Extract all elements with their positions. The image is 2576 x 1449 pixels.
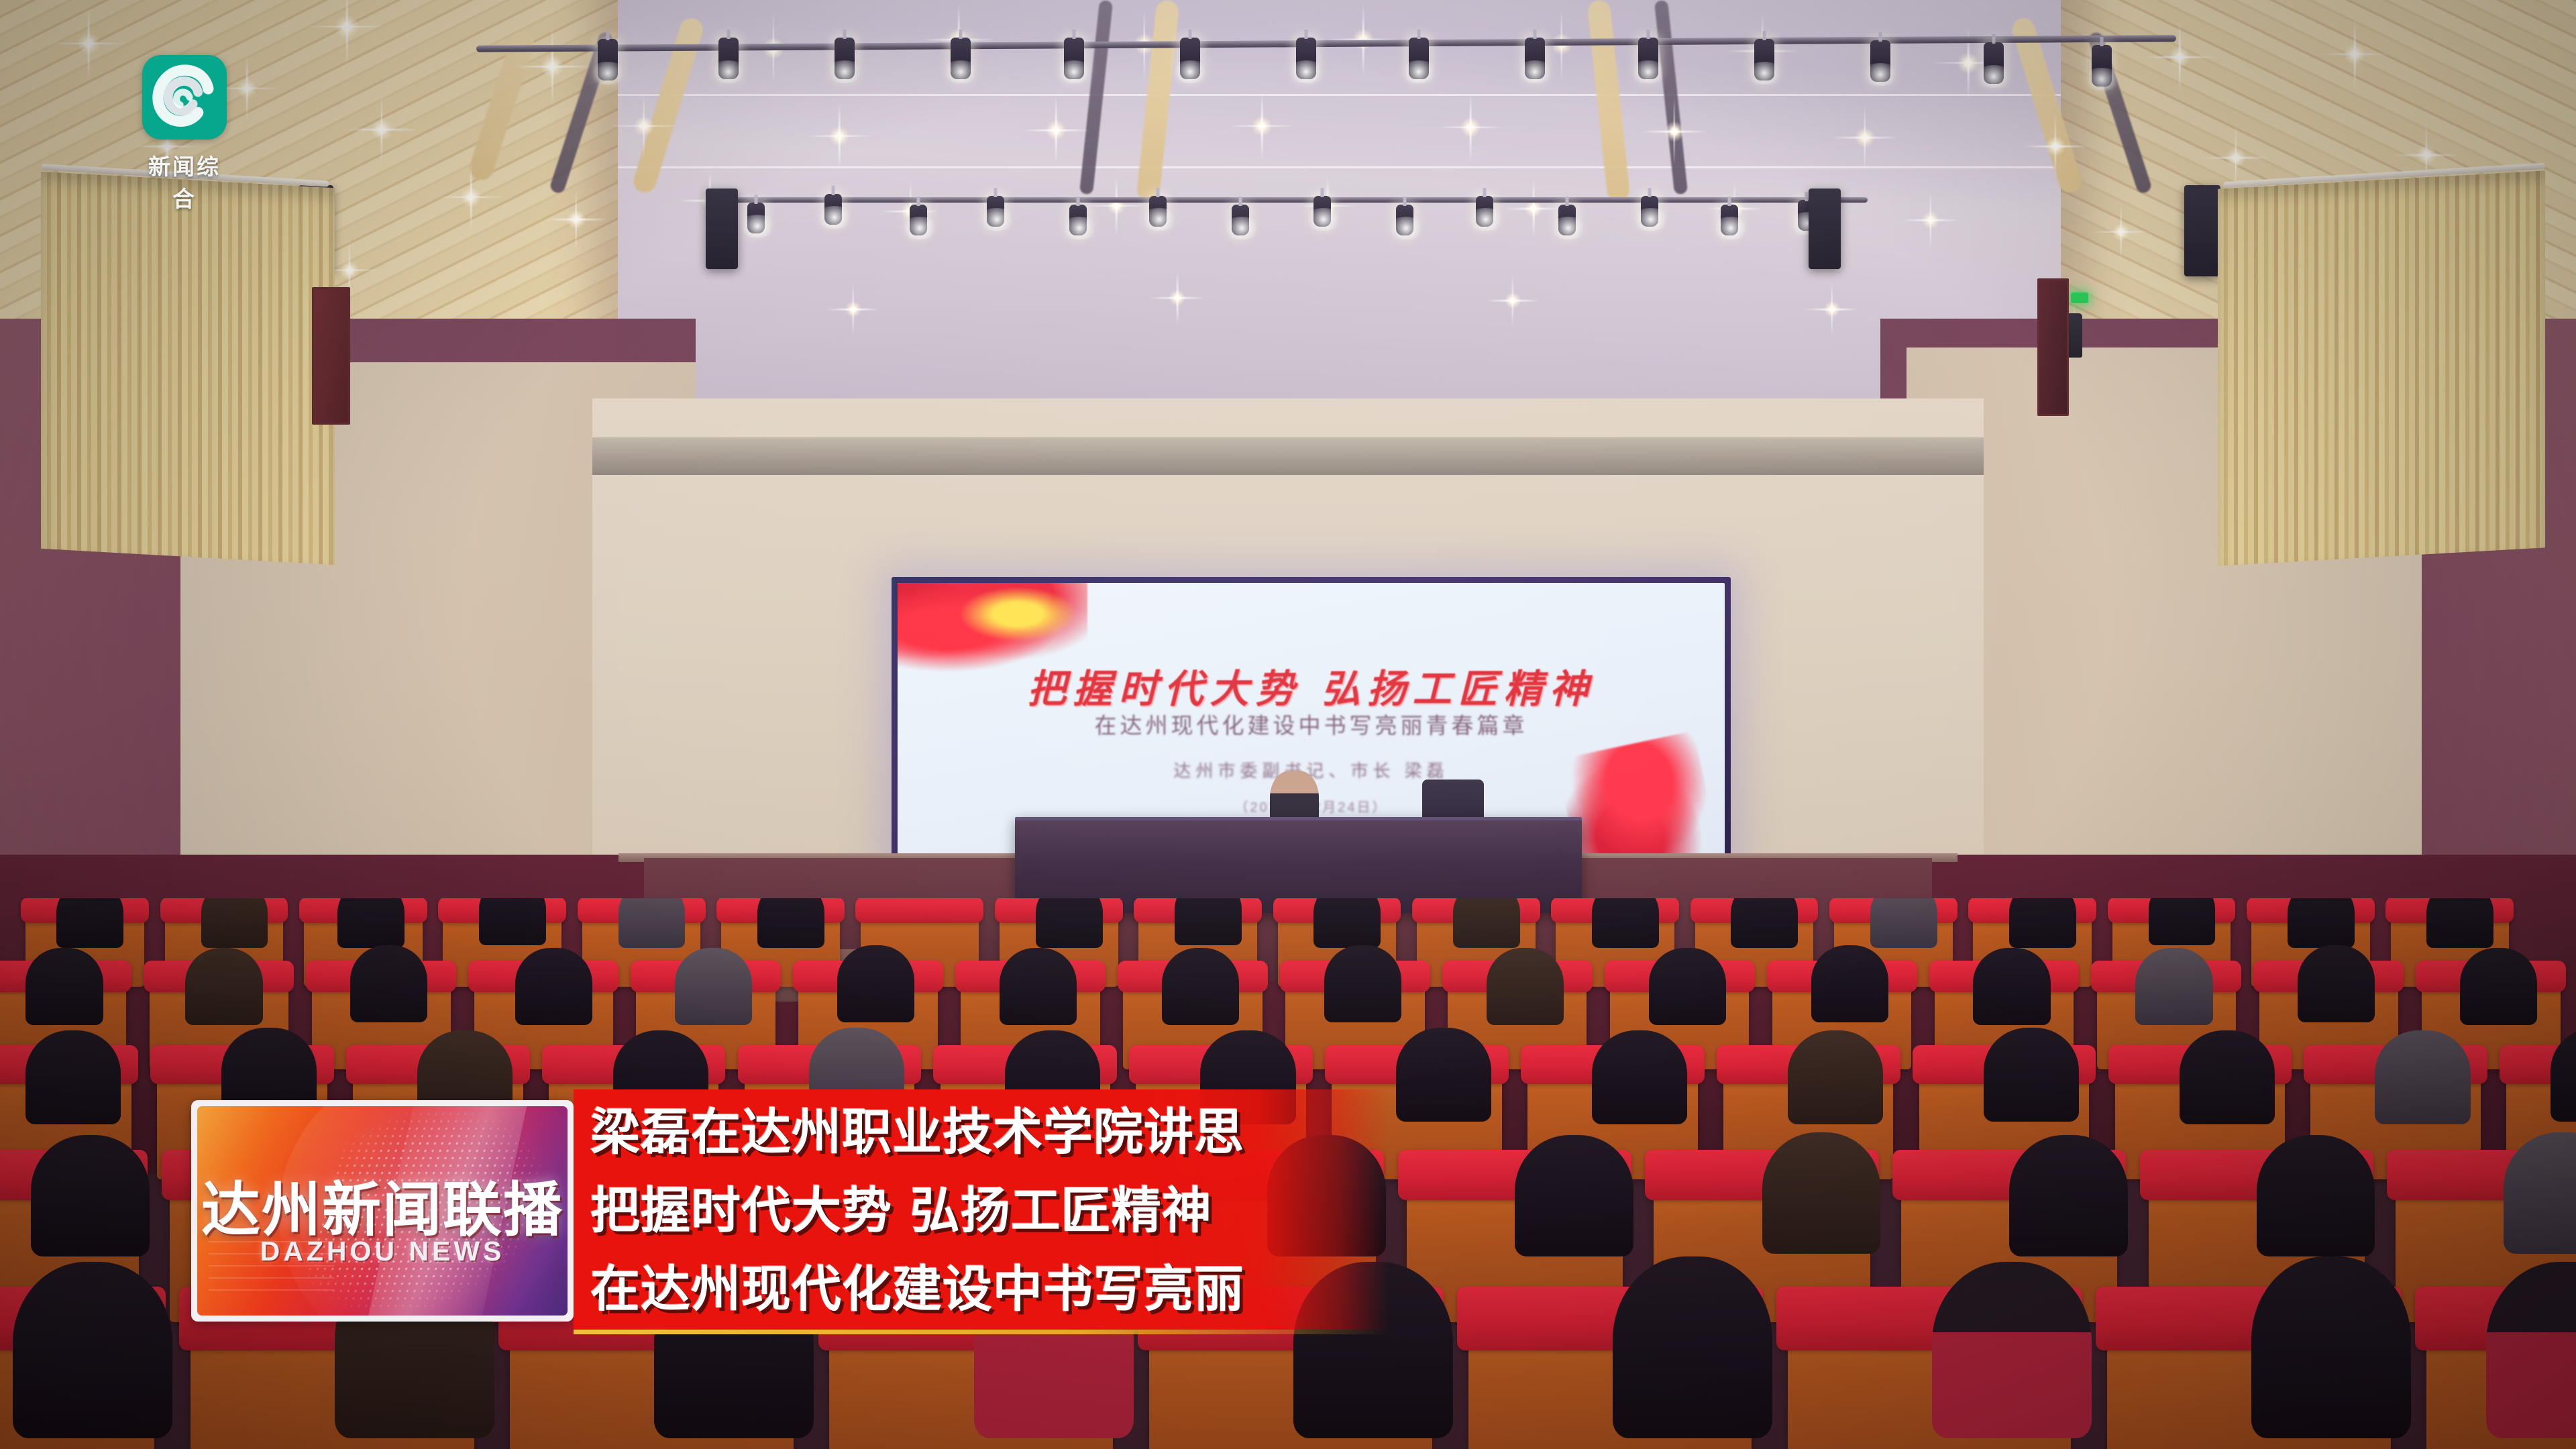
- front-light: [1069, 205, 1087, 235]
- stage-light-fixture: [718, 38, 739, 79]
- headline-line-2: 把握时代大势 弘扬工匠精神: [590, 1172, 1476, 1250]
- speaker-left: [706, 189, 738, 269]
- ceiling-light: [335, 15, 359, 39]
- ceiling-light: [77, 32, 100, 55]
- led-title: 把握时代大势 弘扬工匠精神: [898, 657, 1725, 714]
- headline-line-3: 在达州现代化建设中书写亮丽: [590, 1250, 1476, 1329]
- led-subtitle: 在达州现代化建设中书写亮丽青春篇章: [898, 708, 1725, 740]
- front-light: [1396, 205, 1413, 235]
- front-light: [1476, 196, 1493, 227]
- ceiling-light: [1505, 292, 1521, 309]
- headline-text: 梁磊在达州职业技术学院讲思 把握时代大势 弘扬工匠精神 在达州现代化建设中书写亮…: [590, 1093, 1476, 1329]
- ceiling-light: [461, 187, 481, 207]
- speaker-right: [1809, 189, 1841, 269]
- channel-name: 新闻综合: [142, 149, 227, 213]
- ceiling-light: [567, 210, 586, 229]
- stage-light-fixture: [1638, 38, 1658, 79]
- front-light: [1313, 196, 1331, 227]
- ceiling-light: [2045, 136, 2065, 156]
- lighting-truss-front: [708, 197, 1868, 203]
- stage-light-fixture: [1870, 40, 1890, 82]
- front-light: [1641, 196, 1658, 227]
- stage-light-fixture: [1984, 42, 2004, 84]
- front-light: [747, 203, 765, 233]
- front-light: [1149, 196, 1167, 227]
- stage-light-fixture: [951, 38, 971, 79]
- curtain-left: [41, 172, 335, 565]
- proscenium-valance: [592, 437, 1984, 475]
- front-light: [1721, 205, 1738, 235]
- front-light: [1558, 205, 1576, 235]
- ceiling-light: [237, 78, 257, 99]
- ceiling-light: [1664, 121, 1684, 142]
- front-light: [910, 205, 927, 235]
- ceiling-light: [634, 116, 654, 136]
- stage-light-fixture: [1525, 38, 1545, 79]
- front-light: [824, 194, 842, 225]
- program-logo-badge: 达州新闻联播 DAZHOU NEWS: [191, 1100, 574, 1322]
- ceiling-light: [371, 119, 392, 140]
- channel-bug: 新闻综合: [142, 55, 227, 213]
- stage-light-fixture: [1180, 38, 1200, 79]
- ceiling-light: [1252, 116, 1272, 136]
- headline-line-1: 梁磊在达州职业技术学院讲思: [590, 1093, 1476, 1172]
- door-left[interactable]: [312, 287, 351, 425]
- ceiling-light: [845, 301, 861, 317]
- exit-sign-icon: [2071, 292, 2088, 303]
- ceiling-light: [1855, 127, 1875, 148]
- speaker-right-far: [2184, 185, 2220, 276]
- curtain-right: [2218, 170, 2545, 566]
- swirl-logo-icon: [142, 55, 227, 140]
- broadcast-frame: 把握时代大势 弘扬工匠精神 在达州现代化建设中书写亮丽青春篇章 达州市委副书记、…: [0, 0, 2576, 1449]
- program-title-en: DAZHOU NEWS: [197, 1236, 568, 1267]
- ceiling-light: [1922, 211, 1939, 229]
- front-light: [987, 196, 1004, 227]
- ceiling-light: [2226, 148, 2246, 168]
- stage-light-fixture: [835, 38, 855, 79]
- ceiling-light: [340, 261, 359, 280]
- stage-light-fixture: [2092, 45, 2112, 87]
- stage-light-fixture: [1754, 39, 1774, 80]
- ceiling-light: [2416, 145, 2436, 165]
- front-light: [1232, 205, 1249, 235]
- stage-light-fixture: [1409, 38, 1429, 79]
- stage-light-fixture: [1296, 38, 1316, 79]
- ceiling-light: [2112, 223, 2130, 241]
- stage-light-fixture: [598, 39, 618, 80]
- stage-light-fixture: [1064, 38, 1084, 79]
- door-right[interactable]: [2037, 278, 2068, 416]
- ceiling-light: [1824, 301, 1840, 317]
- ceiling-light: [2344, 44, 2365, 65]
